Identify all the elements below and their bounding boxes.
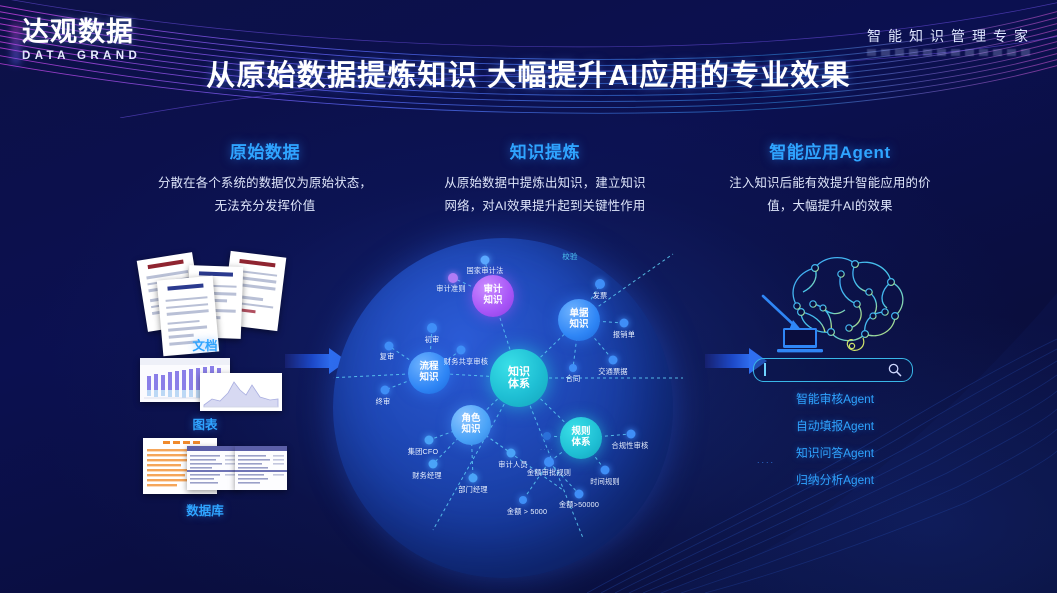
graph-hub-center[interactable]: 知识体系 bbox=[490, 349, 548, 407]
column-heading-knowledge-extraction: 知识提炼 bbox=[405, 138, 685, 163]
graph-leaf-node[interactable] bbox=[569, 364, 577, 372]
area-chart-svg bbox=[200, 373, 282, 411]
source-documents-illustration bbox=[140, 248, 280, 338]
graph-leaf-label-audit-standard: 审计准则 bbox=[436, 284, 466, 294]
graph-leaf-node[interactable] bbox=[469, 474, 478, 483]
arrow-shaft bbox=[285, 354, 331, 368]
column-desc-raw-data-line1: 分散在各个系统的数据仅为原始状态， bbox=[115, 172, 415, 195]
graph-ellipsis-label: .... bbox=[540, 443, 554, 452]
graph-leaf-node[interactable] bbox=[543, 432, 551, 440]
brand-name-cn: 达观数据 bbox=[22, 18, 141, 46]
graph-hub-audit[interactable]: 审计知识 bbox=[472, 275, 514, 317]
column-desc-knowledge-extraction: 从原始数据中提炼出知识，建立知识 网络，对AI效果提升起到关键性作用 bbox=[400, 172, 690, 218]
graph-hub-document-label: 单据知识 bbox=[569, 309, 588, 330]
column-heading-agent: 智能应用Agent bbox=[690, 138, 970, 163]
document-text-line bbox=[166, 310, 209, 316]
graph-leaf-label-second-review: 复审 bbox=[380, 352, 395, 362]
graph-leaf-node[interactable] bbox=[425, 436, 434, 445]
graph-leaf-label-national-audit-law: 国家审计法 bbox=[467, 266, 504, 276]
document-text-line bbox=[168, 326, 207, 332]
source-label-charts: 图表 bbox=[150, 414, 260, 433]
area-chart-thumbnail bbox=[200, 373, 282, 411]
document-text-line bbox=[166, 303, 209, 309]
graph-hub-role[interactable]: 角色知识 bbox=[451, 405, 491, 445]
graph-leaf-node[interactable] bbox=[595, 279, 605, 289]
graph-hub-process-label: 流程知识 bbox=[419, 362, 438, 383]
database-table-thumbnail bbox=[187, 446, 239, 490]
document-text-line bbox=[167, 320, 200, 325]
column-desc-raw-data: 分散在各个系统的数据仅为原始状态， 无法充分发挥价值 bbox=[115, 172, 415, 218]
graph-leaf-node[interactable] bbox=[481, 256, 490, 265]
graph-leaf-node[interactable] bbox=[429, 460, 438, 469]
graph-leaf-label-auditor: 审计人员 bbox=[498, 460, 528, 470]
column-desc-raw-data-line2: 无法充分发挥价值 bbox=[115, 195, 415, 218]
source-charts-illustration bbox=[140, 358, 285, 413]
graph-leaf-label-finance-manager: 财务经理 bbox=[412, 471, 442, 481]
graph-leaf-node[interactable] bbox=[507, 449, 516, 458]
graph-leaf-label-final-review: 终审 bbox=[376, 397, 391, 407]
source-label-documents: 文档 bbox=[150, 335, 260, 354]
page-title: 从原始数据提炼知识 大幅提升AI应用的专业效果 bbox=[0, 52, 1057, 94]
database-table-svg bbox=[235, 446, 287, 490]
graph-edge-label-verify: 校验 bbox=[562, 251, 577, 262]
source-label-database: 数据库 bbox=[150, 500, 260, 519]
bottom-right-swoosh-decoration bbox=[587, 293, 1057, 593]
graph-hub-audit-label: 审计知识 bbox=[483, 285, 502, 306]
graph-leaf-node[interactable] bbox=[385, 342, 394, 351]
column-desc-knowledge-extraction-line2: 网络，对AI效果提升起到关键性作用 bbox=[400, 195, 690, 218]
graph-leaf-label-dept-manager: 部门经理 bbox=[458, 485, 488, 495]
brand-tagline-text: 智能知识管理专家 bbox=[867, 26, 1035, 46]
column-desc-agent-line1: 注入知识后能有效提升智能应用的价 bbox=[685, 172, 975, 195]
column-desc-knowledge-extraction-line1: 从原始数据中提炼出知识，建立知识 bbox=[400, 172, 690, 195]
graph-leaf-node[interactable] bbox=[519, 496, 527, 504]
graph-leaf-label-contract: 合同 bbox=[566, 374, 581, 384]
document-title-line bbox=[239, 259, 275, 267]
document-title-line bbox=[148, 260, 184, 270]
graph-leaf-node[interactable] bbox=[427, 323, 437, 333]
graph-leaf-label-amount-gt-5000: 金额 > 5000 bbox=[507, 507, 547, 517]
graph-leaf-node[interactable] bbox=[381, 386, 390, 395]
source-database-illustration bbox=[143, 438, 293, 498]
column-heading-raw-data: 原始数据 bbox=[125, 138, 405, 163]
slide-root: 达观数据 DATA GRAND 智能知识管理专家 从原始数据提炼知识 大幅提升A… bbox=[0, 0, 1057, 593]
graph-leaf-node[interactable] bbox=[575, 490, 584, 499]
graph-leaf-label-amount-approval-rule: 金额审批规则 bbox=[526, 469, 572, 477]
document-text-line bbox=[165, 296, 208, 302]
document-title-line bbox=[167, 283, 203, 290]
graph-hub-role-label: 角色知识 bbox=[461, 414, 480, 435]
column-desc-agent-line2: 值，大幅提升AI的效果 bbox=[685, 195, 975, 218]
graph-leaf-node[interactable] bbox=[448, 273, 458, 283]
graph-leaf-node[interactable] bbox=[544, 457, 554, 467]
graph-hub-center-label: 知识体系 bbox=[508, 366, 530, 391]
database-table-thumbnail bbox=[235, 446, 287, 490]
graph-leaf-node[interactable] bbox=[457, 346, 466, 355]
graph-leaf-label-shared-finance-review: 财务共享审核 bbox=[444, 357, 488, 367]
graph-leaf-label-first-review: 初审 bbox=[425, 335, 440, 345]
graph-leaf-label-group-cfo: 集团CFO bbox=[408, 447, 439, 457]
database-table-svg bbox=[187, 446, 239, 490]
column-desc-agent: 注入知识后能有效提升智能应用的价 值，大幅提升AI的效果 bbox=[685, 172, 975, 218]
